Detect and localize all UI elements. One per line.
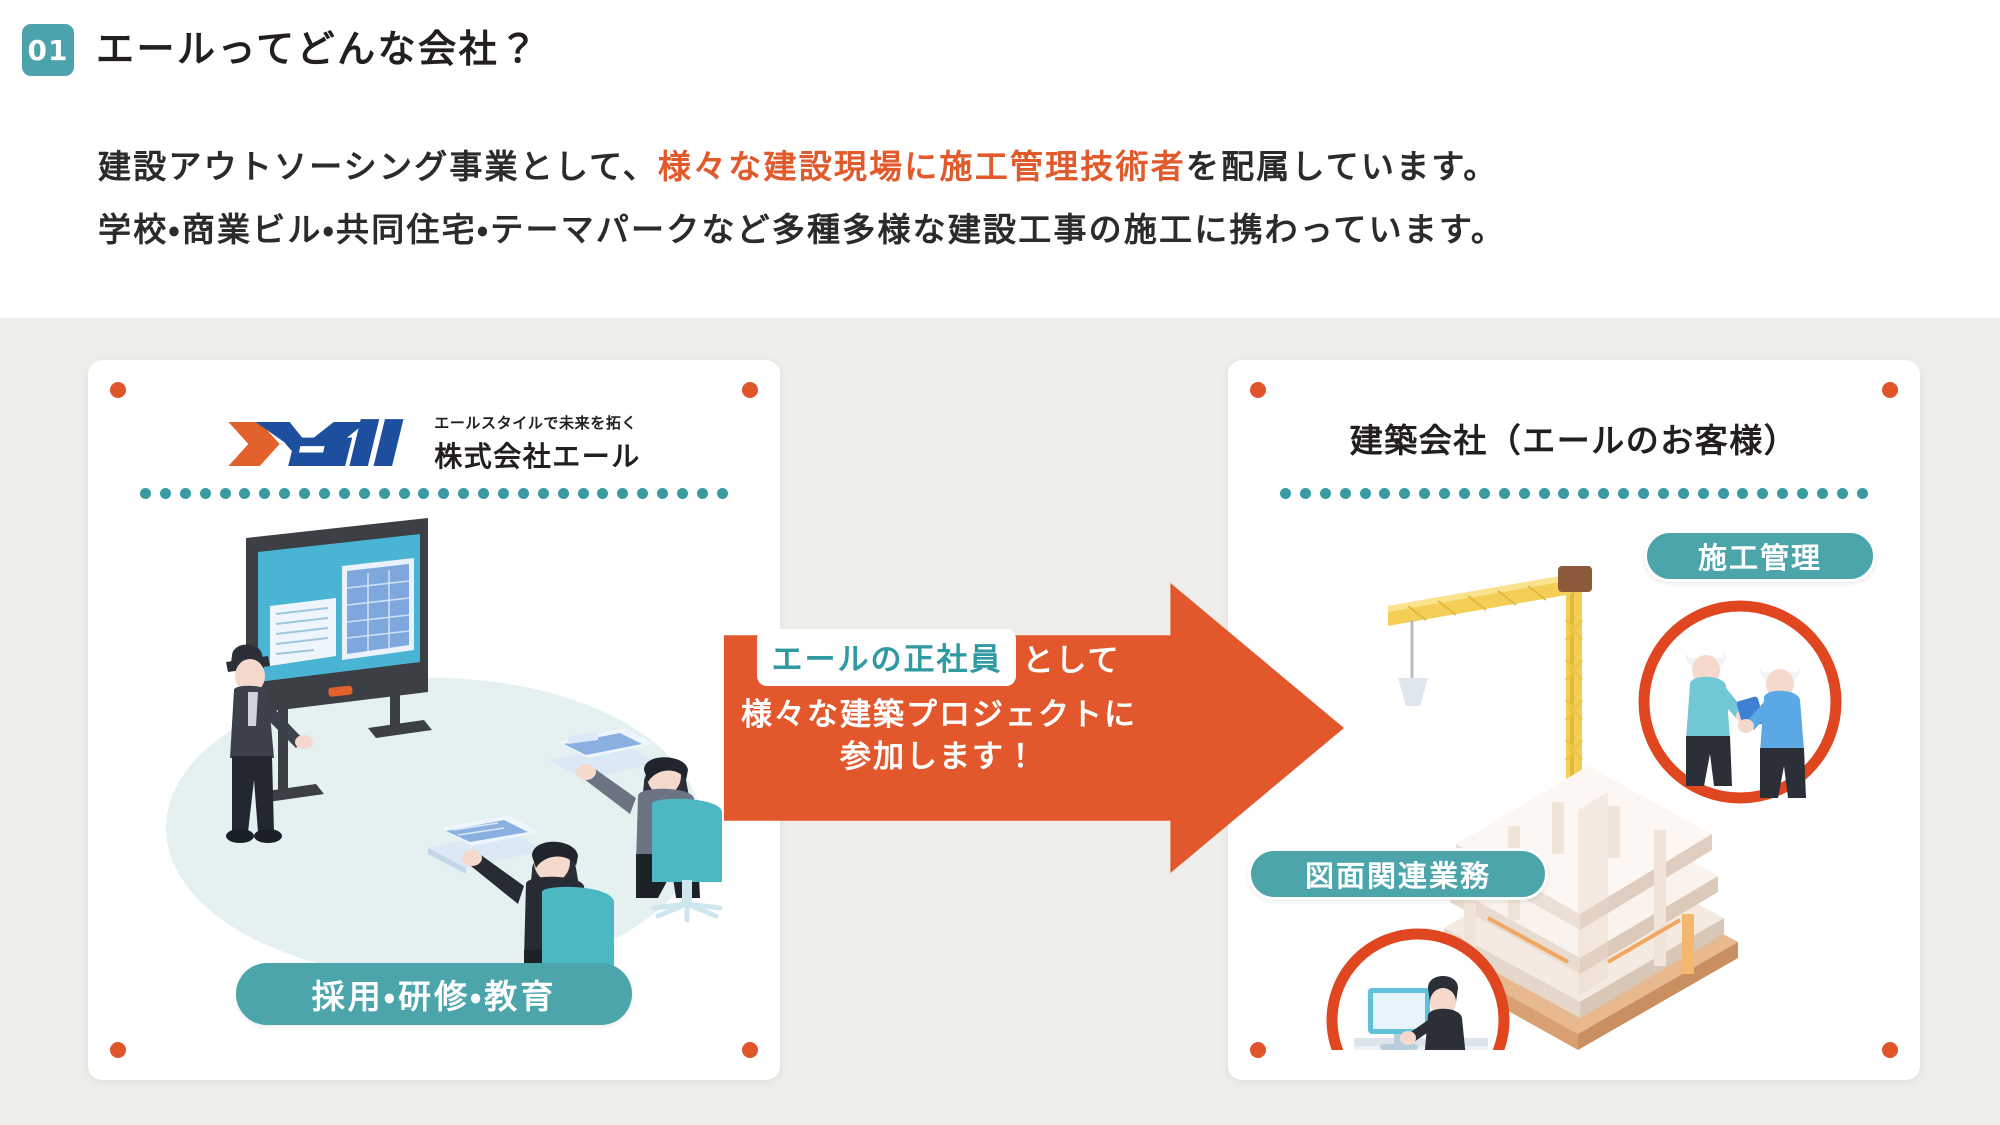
- arrow-highlight-pill: エールの正社員: [757, 629, 1016, 686]
- arrow-line-3: 参加します！: [724, 736, 1154, 778]
- arrow-line-2: 様々な建築プロジェクトに: [724, 694, 1154, 736]
- left-card-yell: エールスタイルで未来を拓く 株式会社エール: [88, 360, 780, 1080]
- corner-screw-icon: [1882, 1042, 1898, 1058]
- dotted-divider-right: [1280, 488, 1868, 499]
- yell-company-name: 株式会社エール: [434, 435, 641, 475]
- arrow-line-1: エールの正社員 として: [724, 629, 1154, 686]
- corner-screw-icon: [110, 382, 126, 398]
- diagram-panel: エールスタイルで未来を拓く 株式会社エール: [0, 318, 2000, 1125]
- yell-logo: エールスタイルで未来を拓く 株式会社エール: [88, 412, 780, 475]
- step-number-badge: 01: [22, 24, 74, 76]
- body-text-pre: 建設アウトソーシング事業として、: [98, 148, 658, 185]
- pill-construction-management: 施工管理: [1644, 530, 1876, 582]
- corner-screw-icon: [110, 1042, 126, 1058]
- arrow-line-1-suffix: として: [1022, 635, 1120, 680]
- corner-screw-icon: [1250, 1042, 1266, 1058]
- body-text-highlight: 様々な建設現場に施工管理技術者: [658, 148, 1186, 185]
- heading-row: 01 エールってどんな会社？: [22, 24, 540, 76]
- corner-screw-icon: [742, 382, 758, 398]
- yell-logo-mark: [227, 415, 412, 473]
- training-illustration: [128, 510, 740, 990]
- body-paragraph-line-2: 学校・商業ビル・共同住宅・テーマパークなど多種多様な建設工事の施工に携わっていま…: [98, 203, 1506, 251]
- right-card-title: 建築会社（エールのお客様）: [1228, 414, 1920, 462]
- corner-screw-icon: [742, 1042, 758, 1058]
- yell-tagline: エールスタイルで未来を拓く: [434, 412, 641, 433]
- construction-illustration: [1268, 510, 1880, 1050]
- corner-screw-icon: [1882, 382, 1898, 398]
- page-title: エールってどんな会社？: [96, 31, 540, 69]
- pill-drawing-work: 図面関連業務: [1248, 848, 1548, 900]
- yell-wordmark-text: エールスタイルで未来を拓く 株式会社エール: [434, 412, 641, 475]
- flow-arrow: エールの正社員 として 様々な建築プロジェクトに 参加します！: [724, 583, 1344, 873]
- dotted-divider-left: [140, 488, 728, 499]
- body-paragraph-line-1: 建設アウトソーシング事業として、様々な建設現場に施工管理技術者を配属しています。: [98, 140, 1498, 188]
- pill-recruitment-training: 採用・研修・教育: [236, 963, 632, 1025]
- arrow-text-block: エールの正社員 として 様々な建築プロジェクトに 参加します！: [724, 629, 1154, 778]
- body-text-post: を配属しています。: [1186, 148, 1499, 185]
- corner-screw-icon: [1250, 382, 1266, 398]
- header-region: 01 エールってどんな会社？ 建設アウトソーシング事業として、様々な建設現場に施…: [0, 0, 2000, 318]
